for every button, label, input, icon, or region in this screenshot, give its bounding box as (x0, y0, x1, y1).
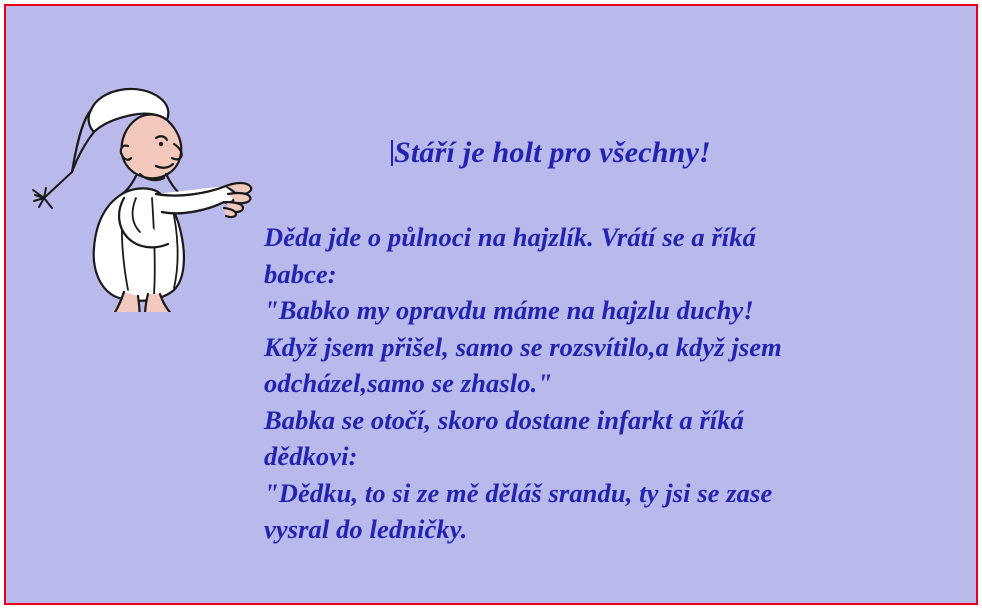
slide-canvas: Stáří je holt pro všechny! Děda jde o pů… (6, 6, 976, 603)
page-root: Stáří je holt pro všechny! Děda jde o pů… (0, 0, 982, 609)
body-line: "Babko my opravdu máme na hajzlu duchy! (264, 292, 944, 329)
body-line: vysral do ledničky. (264, 511, 944, 548)
old-man-in-nightgown-cartoon-icon (28, 52, 258, 312)
body-line: babce: (264, 256, 944, 293)
text-cursor (391, 140, 393, 166)
bordered-frame: Stáří je holt pro všechny! Děda jde o pů… (4, 4, 978, 605)
body-line: dědkovi: (264, 438, 944, 475)
joke-body: Děda jde o půlnoci na hajzlík. Vrátí se … (264, 219, 944, 548)
page-title-text: Stáří je holt pro všechny! (394, 136, 711, 169)
body-line: odcházel,samo se zhaslo." (264, 365, 944, 402)
body-line: Babka se otočí, skoro dostane infarkt a … (264, 402, 944, 439)
body-line: Děda jde o půlnoci na hajzlík. Vrátí se … (264, 219, 944, 256)
page-title: Stáří je holt pro všechny! (391, 136, 911, 169)
body-line: Když jsem přišel, samo se rozsvítilo,a k… (264, 329, 944, 366)
body-line: "Dědku, to si ze mě děláš srandu, ty jsi… (264, 475, 944, 512)
